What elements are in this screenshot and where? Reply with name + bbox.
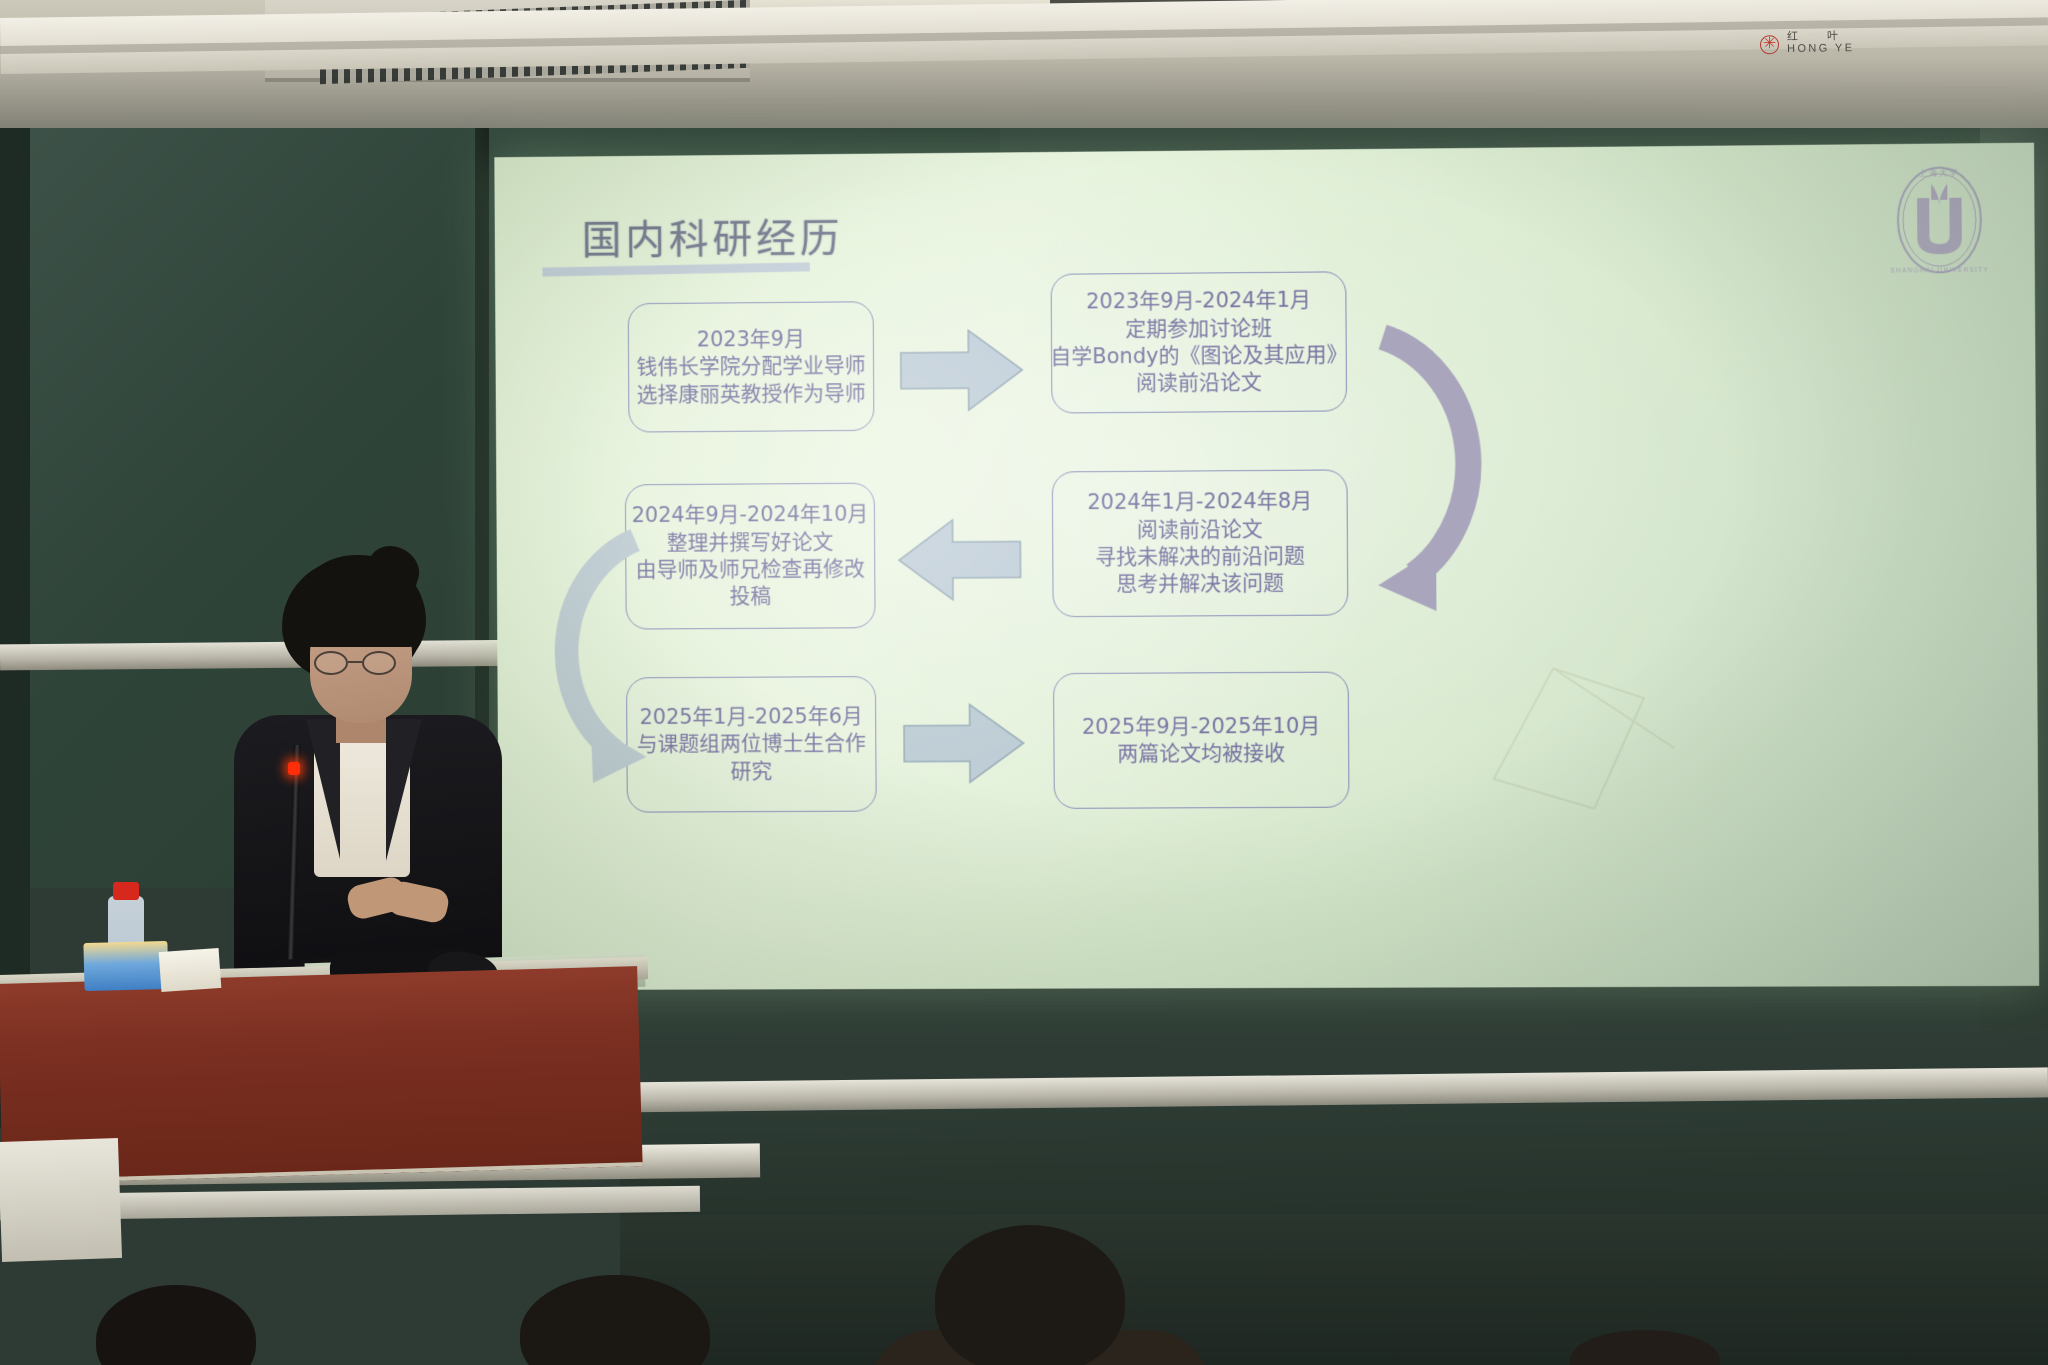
lecture-photo-scene: ✳ 红 叶 HONG YE 国内科研经历 上海大学 SHANGHAI UNIVE…	[0, 0, 2048, 1365]
eyeglasses-icon	[312, 651, 412, 677]
flow-box-2-line-1: 定期参加讨论班	[1125, 315, 1272, 343]
presenter-lapel-right	[386, 719, 422, 861]
flow-box-2-line-2: 自学Bondy的《图论及其应用》	[1050, 341, 1347, 371]
flow-box-1[interactable]: 2023年9月 钱伟长学院分配学业导师 选择康丽英教授作为导师	[628, 301, 875, 432]
flow-box-4-line-1: 整理并撰写好论文	[667, 528, 834, 556]
presenter	[228, 555, 528, 975]
microphone-led-indicator	[288, 762, 300, 775]
slide-title: 国内科研经历	[582, 206, 844, 266]
flow-box-2-line-3: 阅读前沿论文	[1136, 369, 1262, 397]
flow-box-2-line-0: 2023年9月-2024年1月	[1086, 287, 1311, 316]
flow-box-3[interactable]: 2024年1月-2024年8月 阅读前沿论文 寻找未解决的前沿问题 思考并解决该…	[1052, 469, 1349, 617]
screen-brand-badge: ✳ 红 叶 HONG YE	[1760, 21, 1961, 66]
water-bottle-label	[83, 941, 168, 991]
flow-box-6-line-1: 两篇论文均被接收	[1117, 740, 1285, 768]
flow-box-1-line-0: 2023年9月	[697, 326, 805, 354]
flow-box-3-line-0: 2024年1月-2024年8月	[1087, 488, 1312, 517]
flow-box-4-line-3: 投稿	[729, 583, 771, 610]
flow-box-3-line-2: 寻找未解决的前沿问题	[1095, 543, 1305, 572]
arrow-curved-box2-to-box3	[1342, 298, 1545, 630]
flow-box-6-line-0: 2025年9月-2025年10月	[1082, 712, 1320, 740]
water-bottle-cap	[113, 882, 139, 900]
brand-star-icon: ✳	[1760, 35, 1779, 54]
brand-name-en: HONG YE	[1787, 43, 1854, 55]
wall-lower	[620, 1215, 2048, 1365]
presenter-lapel-left	[306, 719, 340, 859]
flow-box-3-line-1: 阅读前沿论文	[1137, 516, 1263, 544]
presenter-hands	[348, 873, 456, 939]
chalkboard-showthrough	[1473, 627, 1736, 829]
flow-box-6[interactable]: 2025年9月-2025年10月 两篇论文均被接收	[1053, 672, 1349, 809]
arrow-left-box3-to-box4	[893, 514, 1025, 607]
side-cabinet	[0, 1138, 122, 1262]
audience-head	[935, 1225, 1125, 1365]
napkin	[159, 948, 222, 992]
svg-text:上海大学: 上海大学	[1919, 168, 1959, 178]
arrow-right-box5-to-box6	[900, 699, 1028, 787]
audience-head	[96, 1285, 256, 1365]
shanghai-university-logo: 上海大学 SHANGHAI UNIVERSITY	[1886, 153, 1992, 281]
svg-text:SHANGHAI UNIVERSITY: SHANGHAI UNIVERSITY	[1890, 267, 1989, 275]
flow-box-1-line-2: 选择康丽英教授作为导师	[637, 380, 866, 409]
flow-box-3-line-3: 思考并解决该问题	[1116, 570, 1284, 598]
projected-slide: 国内科研经历 上海大学 SHANGHAI UNIVERSITY 2023年9月 …	[494, 143, 2039, 990]
presenter-fringe	[294, 591, 422, 647]
flow-box-1-line-1: 钱伟长学院分配学业导师	[636, 352, 865, 381]
arrow-right-box1-to-box2	[897, 324, 1027, 417]
flow-box-2[interactable]: 2023年9月-2024年1月 定期参加讨论班 自学Bondy的《图论及其应用》…	[1051, 271, 1347, 413]
flow-box-5-line-2: 研究	[731, 758, 773, 785]
